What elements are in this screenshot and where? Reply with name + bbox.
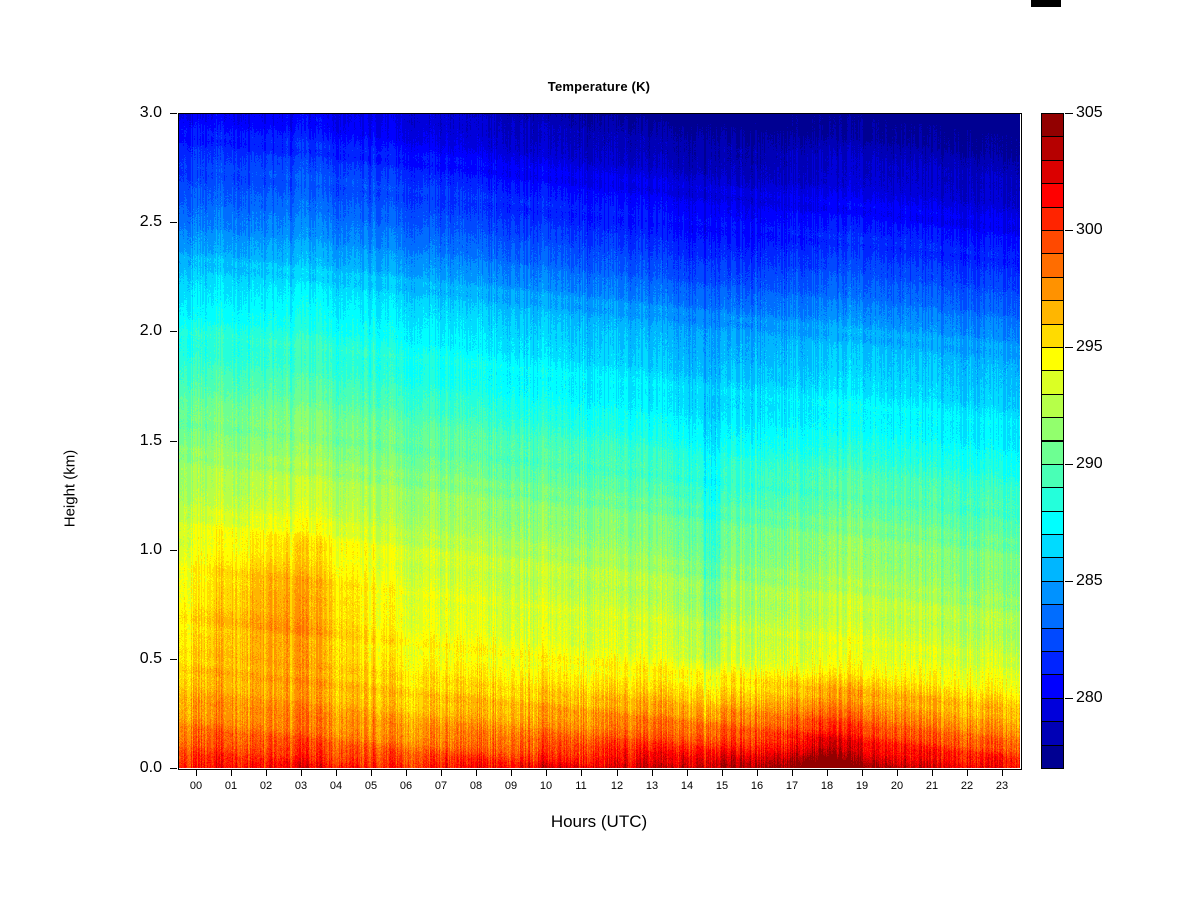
colorbar-band xyxy=(1041,441,1064,465)
colorbar-tick xyxy=(1065,464,1073,465)
y-axis-tick-label: 1.0 xyxy=(102,542,162,558)
y-axis-tick xyxy=(170,331,177,332)
colorbar-band xyxy=(1041,370,1064,394)
x-axis-tick-label: 11 xyxy=(566,781,596,792)
x-axis-tick xyxy=(827,769,828,776)
x-axis-tick-label: 01 xyxy=(216,781,246,792)
x-axis-tick xyxy=(652,769,653,776)
colorbar-tick xyxy=(1065,347,1073,348)
colorbar-tick-label: 280 xyxy=(1076,690,1103,706)
colorbar-band xyxy=(1041,324,1064,348)
axis-layer: 0.00.51.01.52.02.53.00001020304050607080… xyxy=(0,0,1200,900)
x-axis-title: Hours (UTC) xyxy=(178,812,1020,832)
x-axis-tick xyxy=(1002,769,1003,776)
x-axis-tick-label: 21 xyxy=(917,781,947,792)
x-axis-tick xyxy=(336,769,337,776)
colorbar-band xyxy=(1041,698,1064,722)
x-axis-tick-label: 19 xyxy=(847,781,877,792)
x-axis-tick xyxy=(617,769,618,776)
x-axis-tick-label: 10 xyxy=(531,781,561,792)
x-axis-tick xyxy=(441,769,442,776)
x-axis-tick-label: 08 xyxy=(461,781,491,792)
colorbar-tick-label: 295 xyxy=(1076,339,1103,355)
x-axis-tick xyxy=(932,769,933,776)
x-axis-tick-label: 09 xyxy=(496,781,526,792)
colorbar-band xyxy=(1041,347,1064,371)
colorbar: 280285290295300305 xyxy=(1041,113,1064,768)
x-axis-tick-label: 13 xyxy=(637,781,667,792)
y-axis-tick xyxy=(170,659,177,660)
colorbar-band xyxy=(1041,464,1064,488)
x-axis-tick-label: 02 xyxy=(251,781,281,792)
colorbar-band xyxy=(1041,417,1064,441)
figure-root: Temperature (K) 0.00.51.01.52.02.53.0000… xyxy=(0,0,1200,900)
y-axis-tick-label: 1.5 xyxy=(102,433,162,449)
colorbar-band xyxy=(1041,394,1064,418)
y-axis-tick-label: 2.0 xyxy=(102,323,162,339)
colorbar-band xyxy=(1041,721,1064,745)
colorbar-band xyxy=(1041,160,1064,184)
x-axis-tick xyxy=(231,769,232,776)
colorbar-band xyxy=(1041,253,1064,277)
colorbar-band xyxy=(1041,300,1064,324)
x-axis-tick-label: 03 xyxy=(286,781,316,792)
x-axis-tick xyxy=(792,769,793,776)
colorbar-tick-label: 305 xyxy=(1076,105,1103,121)
colorbar-band xyxy=(1041,207,1064,231)
x-axis-tick-label: 17 xyxy=(777,781,807,792)
x-axis-tick-label: 14 xyxy=(672,781,702,792)
y-axis-title: Height (km) xyxy=(62,389,79,589)
colorbar-band xyxy=(1041,581,1064,605)
x-axis-tick xyxy=(546,769,547,776)
x-axis-tick-label: 00 xyxy=(181,781,211,792)
x-axis-tick-label: 22 xyxy=(952,781,982,792)
x-axis-tick xyxy=(301,769,302,776)
y-axis-tick xyxy=(170,441,177,442)
colorbar-band xyxy=(1041,651,1064,675)
colorbar-tick-label: 290 xyxy=(1076,456,1103,472)
colorbar-band xyxy=(1041,745,1064,769)
x-axis-tick xyxy=(862,769,863,776)
y-axis-tick-label: 3.0 xyxy=(102,105,162,121)
colorbar-band xyxy=(1041,487,1064,511)
x-axis-tick-label: 12 xyxy=(602,781,632,792)
x-axis-tick xyxy=(511,769,512,776)
x-axis-tick xyxy=(371,769,372,776)
y-axis-tick xyxy=(170,222,177,223)
y-axis-tick xyxy=(170,113,177,114)
colorbar-tick xyxy=(1065,581,1073,582)
x-axis-tick xyxy=(476,769,477,776)
x-axis-tick-label: 16 xyxy=(742,781,772,792)
y-axis-tick xyxy=(170,550,177,551)
y-axis-tick-label: 0.5 xyxy=(102,651,162,667)
x-axis-tick-label: 23 xyxy=(987,781,1017,792)
colorbar-tick-label: 285 xyxy=(1076,573,1103,589)
colorbar-tick xyxy=(1065,698,1073,699)
colorbar-band xyxy=(1041,113,1064,137)
colorbar-band xyxy=(1041,628,1064,652)
x-axis-tick xyxy=(581,769,582,776)
colorbar-band xyxy=(1041,183,1064,207)
x-axis-tick xyxy=(687,769,688,776)
x-axis-tick-label: 20 xyxy=(882,781,912,792)
colorbar-band xyxy=(1041,230,1064,254)
colorbar-band xyxy=(1041,277,1064,301)
x-axis-tick-label: 05 xyxy=(356,781,386,792)
x-axis-tick-label: 04 xyxy=(321,781,351,792)
colorbar-band xyxy=(1041,511,1064,535)
y-axis-tick xyxy=(170,768,177,769)
colorbar-tick xyxy=(1065,113,1073,114)
colorbar-band xyxy=(1041,534,1064,558)
x-axis-tick-label: 15 xyxy=(707,781,737,792)
x-axis-tick xyxy=(757,769,758,776)
x-axis-tick xyxy=(967,769,968,776)
y-axis-tick-label: 0.0 xyxy=(102,760,162,776)
colorbar-band xyxy=(1041,136,1064,160)
colorbar-tick xyxy=(1065,230,1073,231)
colorbar-band xyxy=(1041,674,1064,698)
x-axis-tick xyxy=(196,769,197,776)
x-axis-tick xyxy=(722,769,723,776)
colorbar-tick-label: 300 xyxy=(1076,222,1103,238)
x-axis-tick xyxy=(406,769,407,776)
x-axis-tick xyxy=(266,769,267,776)
x-axis-tick-label: 18 xyxy=(812,781,842,792)
y-axis-tick-label: 2.5 xyxy=(102,214,162,230)
x-axis-tick xyxy=(897,769,898,776)
x-axis-tick-label: 06 xyxy=(391,781,421,792)
colorbar-band xyxy=(1041,604,1064,628)
colorbar-band xyxy=(1041,557,1064,581)
x-axis-tick-label: 07 xyxy=(426,781,456,792)
